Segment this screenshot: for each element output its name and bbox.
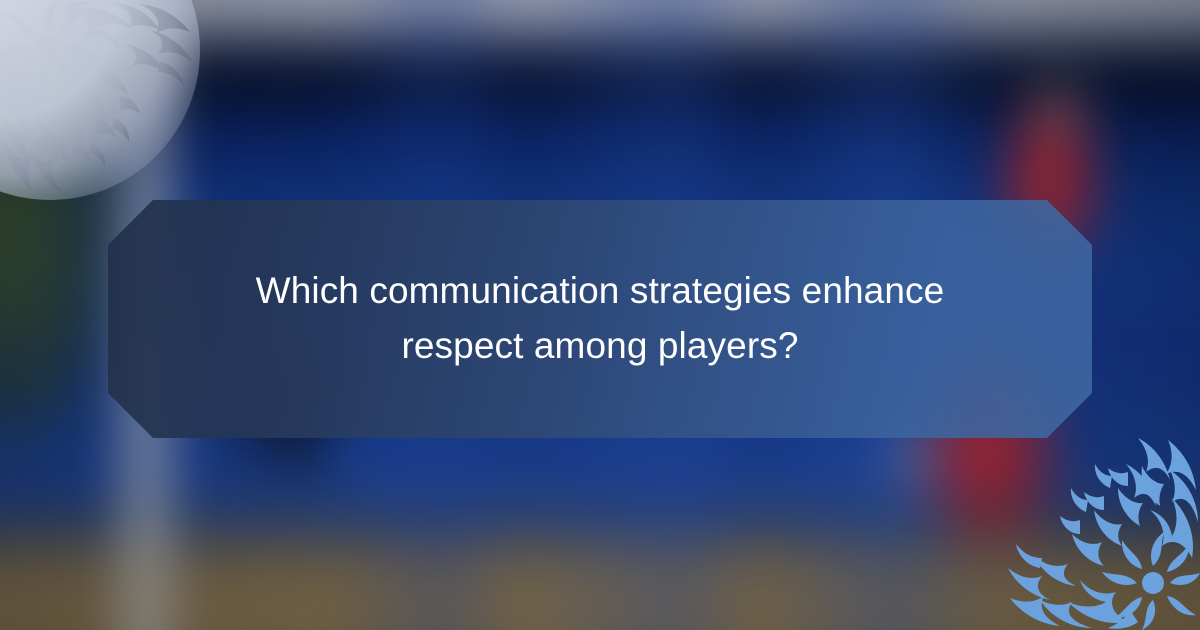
question-text: Which communication strategies enhance r… (160, 264, 1040, 374)
question-card: Which communication strategies enhance r… (108, 200, 1092, 438)
banner-canvas: Which communication strategies enhance r… (0, 0, 1200, 630)
